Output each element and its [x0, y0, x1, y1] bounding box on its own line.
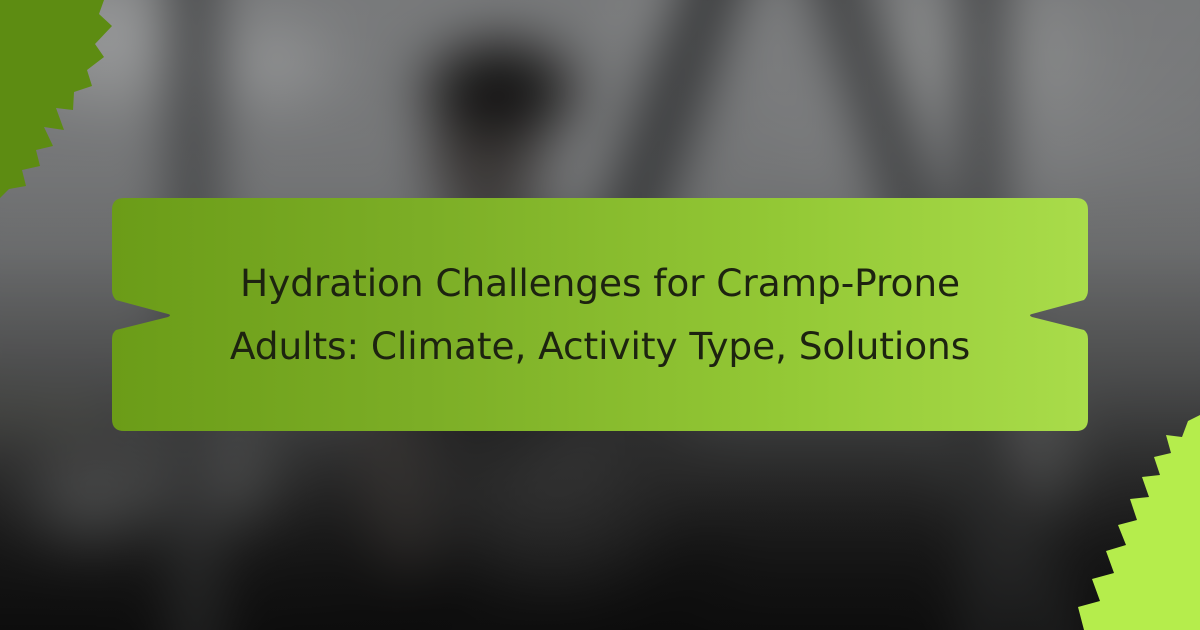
page-title-line-2: Adults: Climate, Activity Type, Solution… — [230, 317, 970, 376]
page-title-line-1: Hydration Challenges for Cramp-Prone — [240, 254, 960, 313]
jagged-burst-top-left — [0, 0, 150, 215]
social-share-card: Hydration Challenges for Cramp-Prone Adu… — [0, 0, 1200, 630]
jagged-burst-bottom-right — [1070, 415, 1200, 630]
banner-title-block: Hydration Challenges for Cramp-Prone Adu… — [260, 196, 940, 433]
title-banner: Hydration Challenges for Cramp-Prone Adu… — [110, 196, 1090, 433]
